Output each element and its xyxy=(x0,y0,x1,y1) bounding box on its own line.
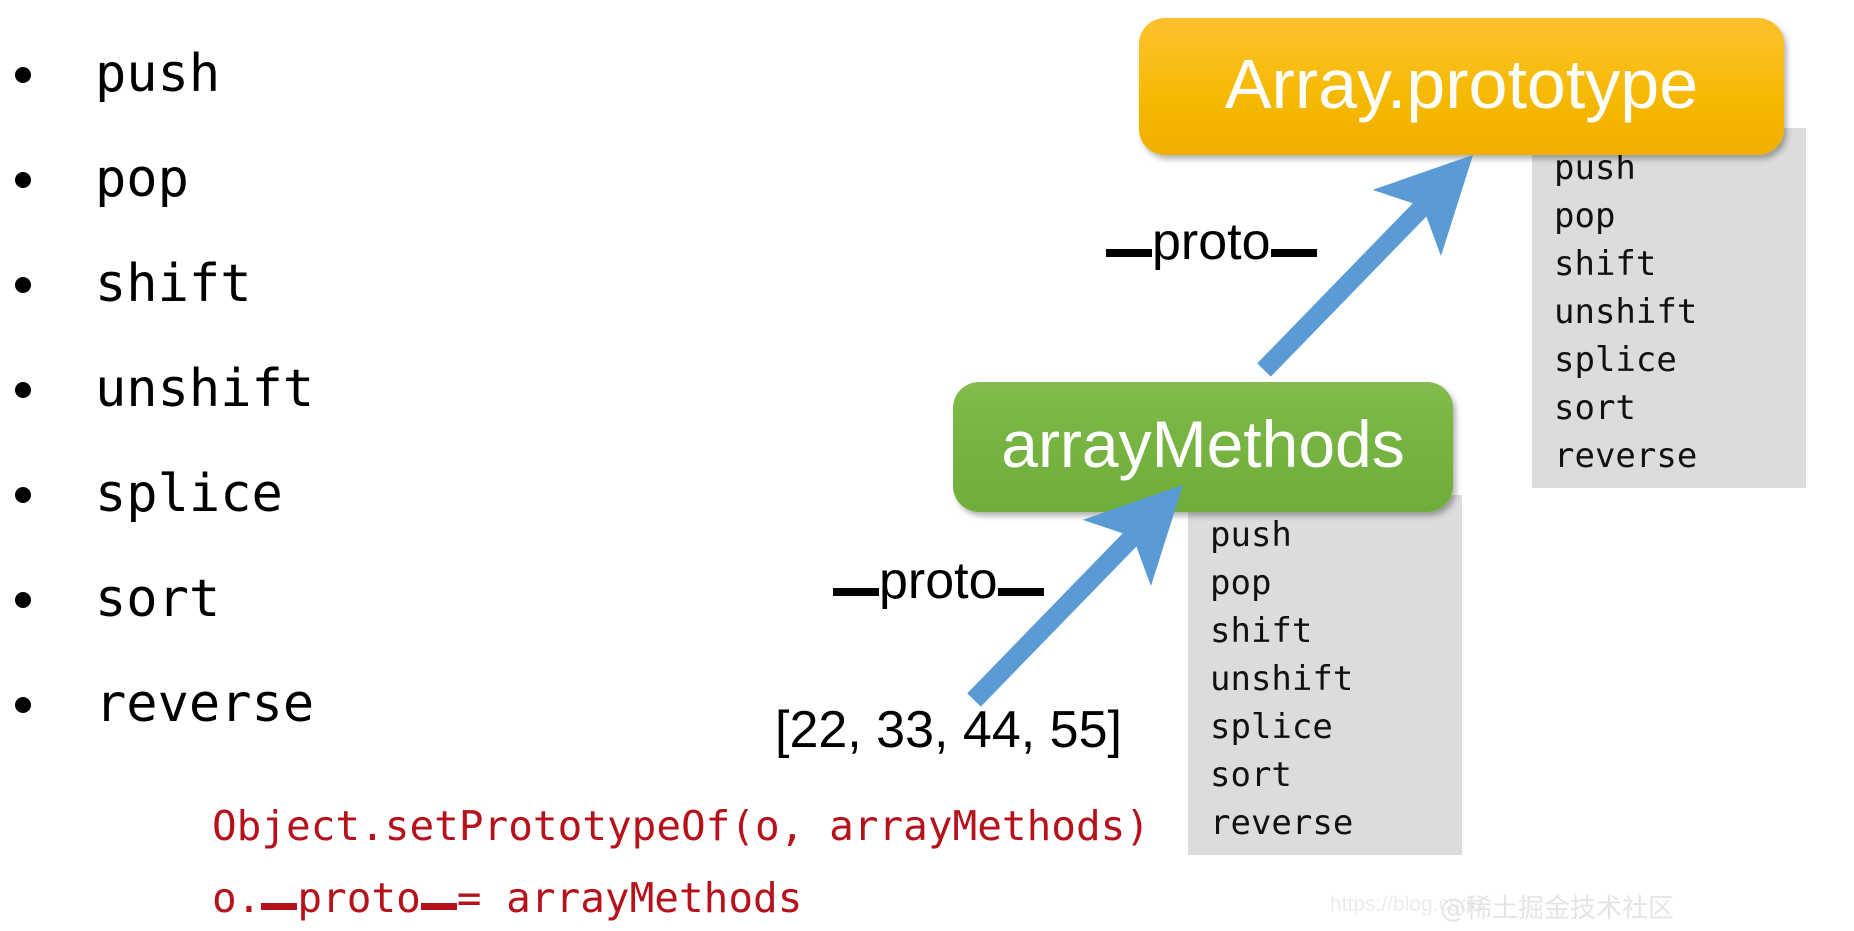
list-item: push xyxy=(0,22,640,127)
watermark-brand: @稀土掘金技术社区 xyxy=(1440,888,1674,925)
code-underscore-right xyxy=(421,903,457,910)
list-item: sort xyxy=(0,547,640,652)
proto-label-text: proto xyxy=(1152,213,1271,271)
array-prototype-node: Array.prototype xyxy=(1139,18,1784,155)
code-line-suffix: = arrayMethods xyxy=(457,874,803,922)
proto-underscore-left xyxy=(1106,249,1152,257)
bullet-dot-icon xyxy=(15,487,31,503)
method-name: shift xyxy=(1210,607,1462,655)
list-item: splice xyxy=(0,442,640,547)
array-literal-text: [22, 33, 44, 55] xyxy=(775,700,1122,760)
method-name: reverse xyxy=(1554,432,1806,480)
list-item-label: unshift xyxy=(95,359,314,419)
list-item: shift xyxy=(0,232,640,337)
method-name: sort xyxy=(1210,751,1462,799)
method-name: pop xyxy=(1210,559,1462,607)
method-name: unshift xyxy=(1210,655,1462,703)
list-item: reverse xyxy=(0,652,640,757)
proto-underscore-right xyxy=(1271,249,1317,257)
list-item-label: splice xyxy=(95,464,283,524)
proto-label-lower: proto xyxy=(833,551,1044,611)
array-methods-label: arrayMethods xyxy=(1001,406,1405,482)
proto-underscore-right xyxy=(998,588,1044,596)
proto-arrow-upper-icon xyxy=(1250,165,1470,385)
method-name: reverse xyxy=(1210,799,1462,847)
array-methods-node: arrayMethods xyxy=(953,382,1453,512)
arraymethods-methods-panel: push pop shift unshift splice sort rever… xyxy=(1188,495,1462,855)
code-line-proto-assignment: o.proto= arrayMethods xyxy=(212,862,1150,931)
list-item-label: sort xyxy=(95,569,220,629)
list-item-label: reverse xyxy=(95,674,314,734)
bullet-dot-icon xyxy=(15,67,31,83)
array-methods-bullet-list: push pop shift unshift splice sort rever… xyxy=(0,22,640,757)
bullet-dot-icon xyxy=(15,697,31,713)
proto-label-text: proto xyxy=(879,552,998,610)
prototype-methods-panel: push pop shift unshift splice sort rever… xyxy=(1532,128,1806,488)
list-item-label: pop xyxy=(95,149,189,209)
proto-underscore-left xyxy=(833,588,879,596)
bullet-dot-icon xyxy=(15,277,31,293)
list-item: pop xyxy=(0,127,640,232)
array-prototype-label: Array.prototype xyxy=(1225,44,1698,124)
method-name: splice xyxy=(1210,703,1462,751)
code-underscore-left xyxy=(261,903,297,910)
method-name: shift xyxy=(1554,240,1806,288)
list-item-label: shift xyxy=(95,254,252,314)
code-line-prefix: o. xyxy=(212,874,261,922)
code-proto-name: proto xyxy=(297,874,420,922)
bullet-dot-icon xyxy=(15,172,31,188)
watermark: https://blog.csdn @稀土掘金技术社区 xyxy=(1330,885,1850,925)
watermark-url: https://blog.csdn xyxy=(1330,893,1483,917)
list-item-label: push xyxy=(95,44,220,104)
method-name: splice xyxy=(1554,336,1806,384)
proto-label-upper: proto xyxy=(1106,212,1317,272)
list-item: unshift xyxy=(0,337,640,442)
bullet-dot-icon xyxy=(15,592,31,608)
bullet-dot-icon xyxy=(15,382,31,398)
method-name: sort xyxy=(1554,384,1806,432)
method-name: push xyxy=(1210,511,1462,559)
method-name: unshift xyxy=(1554,288,1806,336)
slide-canvas: push pop shift unshift splice sort rever… xyxy=(0,0,1854,931)
method-name: pop xyxy=(1554,192,1806,240)
code-block: Object.setPrototypeOf(o, arrayMethods) o… xyxy=(212,790,1150,931)
code-line-setprototypeof: Object.setPrototypeOf(o, arrayMethods) xyxy=(212,790,1150,862)
